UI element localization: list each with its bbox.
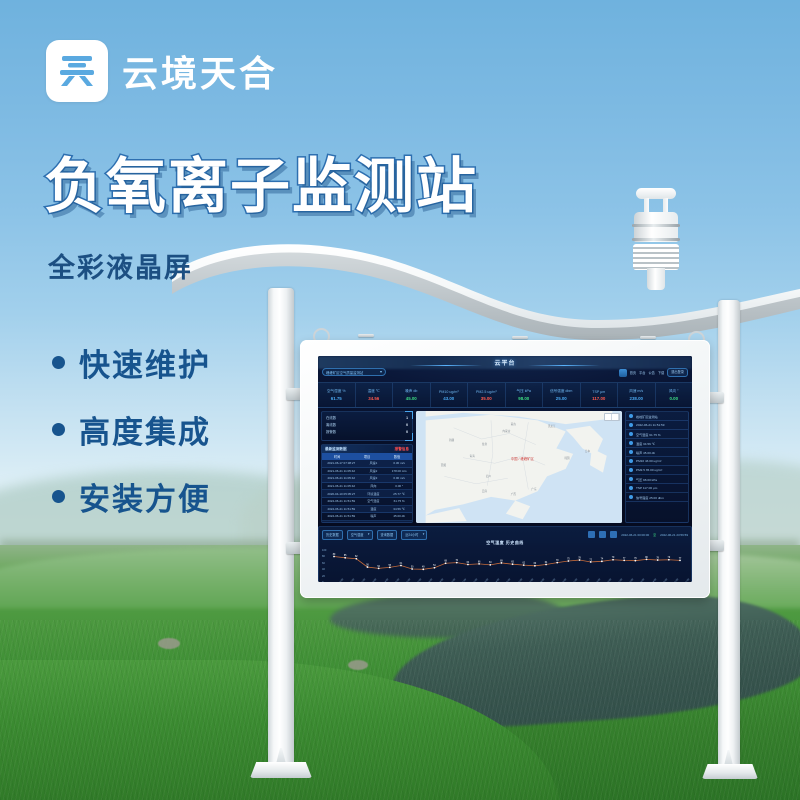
map-canvas[interactable]: 中国 / 峰峰矿区 新疆 内蒙古 黑龙江 西藏 青海 甘肃 四川 云南 广西 广… [416, 411, 622, 523]
export-icon[interactable] [588, 531, 595, 538]
metric-strip: 空气湿度 % 61.75 温度 ℃ 34.56 噪声 db 45.00 PM10… [318, 382, 692, 408]
time-separator: 至 [653, 533, 656, 537]
header-links[interactable]: 首页 平台 公告 下载 [630, 370, 665, 375]
table-row[interactable]: 2021-06-21 11:05:42风向0.00 ° [322, 483, 412, 491]
bullet-dot-icon [629, 495, 633, 499]
map-region-label: 韩国 [564, 456, 569, 460]
chart-line-series: 8985825652556150495468706466636965626064… [331, 547, 683, 582]
station-info-list: 峰峰矿区监测站2022-06-21 11:51:59空气湿度 61.75 %温度… [626, 412, 688, 502]
chart-point-label: 61 [400, 563, 403, 565]
chart-point-label: 52 [377, 566, 380, 568]
map-region-label: 西藏 [441, 463, 446, 467]
feature-list: 快速维护 高度集成 安装方便 [52, 340, 211, 541]
chart-point-label: 79 [612, 557, 615, 559]
metric-card: PM2.5 ug/m³ 35.00 [468, 383, 506, 407]
lcd-screen[interactable]: 云平台 峰峰矿区空气质量监测站 首页 平台 公告 下载 退出登录 [318, 356, 692, 582]
canopy-tab [640, 336, 656, 339]
metric-label: 风向 ° [656, 389, 693, 394]
station-info-text: 2022-06-21 11:51:59 [636, 423, 665, 427]
chart-point-label: 78 [578, 557, 581, 559]
metric-value: 98.00 [506, 396, 543, 401]
status-label: 在线数 [326, 415, 336, 422]
page-subtitle: 全彩液晶屏 [48, 246, 193, 285]
metric-type-select[interactable]: 空气湿度 [347, 530, 373, 540]
chart-point-label: 80 [645, 557, 648, 559]
station-info-text: 峰峰矿区监测站 [636, 414, 658, 419]
chart-point-label: 79 [668, 557, 671, 559]
station-info-row: 信号强度 25.00 dbm [626, 493, 688, 502]
table-cell-item: PM10 [361, 522, 387, 523]
feature-label: 快速维护 [79, 340, 211, 385]
column-header: 项目 [352, 454, 382, 459]
dashboard-header: 云平台 峰峰矿区空气质量监测站 首页 平台 公告 下载 退出登录 [318, 356, 692, 382]
map-region-label: 新疆 [449, 438, 454, 442]
table-cell-time: 2022-06-21 11:51:59 [322, 514, 361, 518]
map-panel[interactable]: 中国 / 峰峰矿区 新疆 内蒙古 黑龙江 西藏 青海 甘肃 四川 云南 广西 广… [416, 411, 622, 523]
metric-value: 35.00 [468, 396, 505, 401]
brand-logo: 云境天合 [46, 40, 278, 102]
chart-point-label: 69 [500, 560, 503, 562]
table-row[interactable]: 2021-06-21 11:05:42风速2178.00 m/s [322, 468, 412, 476]
station-info-row: PM2.5 35.00 ug/m³ [626, 466, 688, 475]
chart-point-label: 64 [545, 562, 548, 564]
metric-card: 空气湿度 % 61.75 [318, 383, 356, 407]
map-region-label: 广西 [511, 492, 516, 496]
chart-point-label: 70 [556, 560, 559, 562]
chart-y-tick: 40 [322, 568, 325, 571]
chart-point-label: 50 [411, 566, 414, 568]
bullet-dot-icon [629, 414, 633, 418]
table-cell-value: 61.75 % [386, 499, 412, 503]
station-info-row: 噪声 45.00 db [626, 448, 688, 457]
zoom-in-icon[interactable] [605, 414, 612, 420]
chart-point-label: 60 [534, 563, 537, 565]
chart-point-label: 49 [422, 567, 425, 569]
station-info-text: 信号强度 25.00 dbm [636, 495, 664, 500]
table-cell-value: 25.77 ℃ [386, 492, 412, 496]
metric-value: 34.56 [356, 396, 393, 401]
table-cell-value: 0.00 ° [386, 484, 412, 488]
header-link[interactable]: 平台 [639, 370, 645, 375]
status-row: 报警数 0 [326, 429, 408, 436]
map-region-label: 云南 [482, 489, 487, 493]
station-info-row: 气压 98.00 kPa [626, 475, 688, 484]
metric-card: 风向 ° 0.00 [656, 383, 693, 407]
map-region-label: 黑龙江 [548, 424, 556, 428]
bullet-dot-icon [52, 423, 65, 436]
station-info-row: 温度 34.56 ℃ [626, 439, 688, 448]
table-row[interactable]: 2022-06-21 11:51:59噪声45.00 db [322, 513, 412, 521]
chart-y-tick: 80 [322, 555, 325, 558]
table-cell-time: 2022-06-21 11:51:59 [322, 507, 361, 511]
end-time[interactable]: 2022-06-21 23:59:59 [660, 533, 688, 537]
canopy-tab [512, 336, 528, 339]
metric-value: 45.00 [393, 396, 430, 401]
page-title: 负氧离子监测站 [44, 138, 478, 225]
bullet-dot-icon [629, 477, 633, 481]
status-row: 离线数 0 [326, 422, 408, 429]
bullet-dot-icon [629, 423, 633, 427]
feature-item: 高度集成 [52, 407, 211, 452]
chart-point-label: 62 [522, 563, 525, 565]
chart-point-label: 55 [389, 565, 392, 567]
left-column: 在线数 1 离线数 0 报警数 0 [321, 411, 413, 523]
product-banner: 云平台 峰峰矿区空气质量监测站 首页 平台 公告 下载 退出登录 [0, 0, 800, 800]
table-title: 最新监测数据 [325, 447, 347, 452]
station-info-row: 2022-06-21 11:51:59 [626, 421, 688, 430]
chart-point-label: 76 [634, 558, 637, 560]
canopy-tab [358, 334, 374, 337]
status-summary-panel: 在线数 1 离线数 0 报警数 0 [321, 411, 413, 441]
bullet-dot-icon [629, 459, 633, 463]
station-info-row: PM10 43.00 ug/m³ [626, 457, 688, 466]
map-landmass [416, 411, 622, 523]
status-value: 0 [406, 422, 408, 429]
header-link[interactable]: 首页 [630, 370, 636, 375]
feature-item: 安装方便 [52, 474, 211, 519]
table-cell-value: 34.56 ℃ [386, 507, 412, 511]
table-cell-time: 2022-06-21 11:51:59 [322, 499, 361, 503]
station-info-text: PM10 43.00 ug/m³ [636, 459, 661, 463]
map-site-label: 中国 / 峰峰矿区 [511, 456, 534, 461]
metric-card: TSP μm 117.00 [581, 383, 619, 407]
logout-button[interactable]: 退出登录 [667, 368, 688, 377]
support-pole-right [718, 300, 740, 770]
chart-point-label: 85 [344, 555, 347, 557]
ultrasonic-weather-sensor-icon [628, 188, 684, 284]
station-info-row: 空气湿度 61.75 % [626, 430, 688, 439]
chart-point-label: 77 [623, 558, 626, 560]
zoom-out-icon[interactable] [612, 414, 619, 420]
status-label: 离线数 [326, 422, 336, 429]
chart-point-label: 77 [679, 558, 682, 560]
metric-value: 43.00 [431, 396, 468, 401]
chart-point-label: 89 [333, 554, 336, 556]
table-row[interactable]: 2020-04-10 05:05:27环境温度25.77 ℃ [322, 490, 412, 498]
chart-line [334, 557, 680, 570]
chart-plot: 100806040200 898582565255615049546870646… [322, 547, 688, 582]
table-cell-time: 2020-04-10 05:05:27 [322, 492, 361, 496]
metric-label: TSP μm [581, 390, 618, 394]
map-region-label: 青海 [470, 454, 475, 458]
sensor-cap [636, 188, 676, 199]
metric-card: 信号强度 dbm 25.00 [543, 383, 581, 407]
metric-card: 气压 kPa 98.00 [506, 383, 544, 407]
feature-item: 快速维护 [52, 340, 211, 385]
table-row[interactable]: 2021-06-17 07:38:27风速10.30 m/s [322, 460, 412, 468]
chart-point-label: 72 [589, 559, 592, 561]
sensor-ring [632, 224, 680, 227]
corner-decoration [405, 433, 413, 441]
table-cell-time: 2021-06-17 07:38:27 [322, 461, 361, 465]
table-cell-item: 风速1 [361, 461, 387, 465]
map-zoom-controls[interactable] [604, 413, 620, 421]
history-chart-panel: 历史数据 空气湿度 查询数据 近24小时 2022-06-21 00:00:00… [318, 526, 692, 582]
table-cell-time: 2021-06-21 11:05:42 [322, 484, 361, 488]
account-area[interactable]: 首页 平台 公告 下载 退出登录 [619, 367, 688, 378]
table-cell-value: 0.30 m/s [386, 461, 412, 465]
table-cell-value: 0.00 m/s [386, 476, 412, 480]
feature-label: 高度集成 [79, 407, 211, 452]
query-button[interactable]: 查询数据 [377, 530, 398, 540]
metric-value: 25.00 [543, 396, 580, 401]
table-cell-item: 环境温度 [361, 492, 387, 496]
map-region-label: 日本 [585, 449, 590, 453]
print-icon[interactable] [599, 531, 606, 538]
station-info-row: TSP 117.00 μm [626, 484, 688, 493]
metric-label: 温度 ℃ [356, 389, 393, 394]
chart-point-label: 65 [511, 562, 514, 564]
corner-decoration [405, 411, 413, 419]
rock [158, 638, 180, 649]
chart-title: 空气湿度 历史曲线 [322, 540, 688, 546]
table-cell-time: 2021-06-21 11:05:42 [322, 476, 361, 480]
rock [348, 660, 368, 670]
station-info-text: TSP 117.00 μm [636, 486, 657, 490]
metric-label: 气压 kPa [506, 389, 543, 394]
map-region-label: 蒙古 [511, 422, 516, 426]
station-info-text: 气压 98.00 kPa [636, 477, 657, 482]
metric-value: 0.00 [656, 396, 693, 401]
table-cell-item: 风速2 [361, 469, 387, 473]
sensor-ring [632, 238, 680, 241]
table-cell-value: 43.00 ug/m³ [386, 522, 412, 523]
metric-label: 噪声 db [393, 389, 430, 394]
metric-label: 信号强度 dbm [543, 389, 580, 394]
metric-card: 温度 ℃ 34.56 [356, 383, 394, 407]
metric-card: PM10 ug/m³ 43.00 [431, 383, 469, 407]
metric-card: 风速 m/s 238.00 [618, 383, 656, 407]
metric-value: 61.75 [318, 396, 355, 401]
metric-label: PM10 ug/m³ [431, 390, 468, 394]
table-cell-value: 178.00 m/s [386, 469, 412, 473]
history-data-button[interactable]: 历史数据 [322, 530, 343, 540]
pole-base-plate-right [702, 764, 758, 779]
metric-value: 238.00 [618, 396, 655, 401]
bullet-dot-icon [52, 490, 65, 503]
status-row: 在线数 1 [326, 415, 408, 422]
chart-y-tick: 20 [322, 575, 325, 578]
station-info-text: 空气湿度 61.75 % [636, 432, 661, 437]
table-icon[interactable] [610, 531, 617, 538]
canopy-roof [168, 236, 800, 346]
chart-point-label: 82 [355, 556, 358, 558]
chart-toolbar: 历史数据 空气湿度 查询数据 近24小时 2022-06-21 00:00:00… [322, 530, 688, 539]
column-header: 数值 [382, 454, 412, 459]
station-info-row: 峰峰矿区监测站 [626, 412, 688, 421]
table-row[interactable]: 2022-06-21 11:51:59温度34.56 ℃ [322, 506, 412, 514]
sensor-stem [647, 268, 665, 290]
table-cell-value: 45.00 db [386, 514, 412, 518]
table-row[interactable]: 2021-06-21 11:05:42风速30.00 m/s [322, 475, 412, 483]
table-cell-time: 2021-06-21 11:05:42 [322, 469, 361, 473]
station-info-panel: 峰峰矿区监测站2022-06-21 11:51:59空气湿度 61.75 %温度… [625, 411, 689, 523]
table-cell-item: 噪声 [361, 514, 387, 518]
status-label: 报警数 [326, 429, 336, 436]
latest-data-table: 最新监测数据 报警信息 时间 项目 数值 2021-06-17 07:38:27… [321, 444, 413, 523]
bullet-dot-icon [629, 468, 633, 472]
chart-point-label: 56 [366, 564, 369, 566]
metric-value: 117.00 [581, 396, 618, 401]
support-pole-left [268, 288, 294, 768]
map-region-label: 甘肃 [482, 442, 487, 446]
chart-point-label: 63 [489, 562, 492, 564]
chart-point-label: 78 [656, 557, 659, 559]
sensor-radiation-shield [633, 244, 679, 270]
metric-label: 空气湿度 % [318, 389, 355, 394]
feature-label: 安装方便 [79, 474, 211, 519]
chart-point-label: 64 [467, 562, 470, 564]
chart-point-label: 75 [567, 558, 570, 560]
metric-label: 风速 m/s [618, 389, 655, 394]
station-info-text: 噪声 45.00 db [636, 450, 655, 455]
table-column-headers: 时间 项目 数值 [322, 453, 412, 460]
column-header: 时间 [322, 454, 352, 459]
station-info-text: PM2.5 35.00 ug/m³ [636, 468, 662, 472]
avatar[interactable] [619, 369, 627, 377]
metric-label: PM2.5 ug/m³ [468, 390, 505, 394]
metric-card: 噪声 db 45.00 [393, 383, 431, 407]
table-cell-time: 2022-06-21 11:51:59 [322, 522, 361, 523]
chart-point-label: 66 [478, 561, 481, 563]
table-row[interactable]: 2022-06-21 11:51:59空气湿度61.75 % [322, 498, 412, 506]
chart-point-label: 70 [455, 560, 458, 562]
alarm-badge[interactable]: 报警信息 [395, 447, 409, 452]
table-cell-item: 空气湿度 [361, 499, 387, 503]
bullet-dot-icon [52, 356, 65, 369]
dashboard-body: 在线数 1 离线数 0 报警数 0 [318, 408, 692, 526]
table-cell-item: 温度 [361, 507, 387, 511]
header-link[interactable]: 下载 [658, 370, 664, 375]
yjth-logo-icon [46, 40, 108, 102]
cloud-platform-dashboard: 云平台 峰峰矿区空气质量监测站 首页 平台 公告 下载 退出登录 [318, 356, 692, 582]
brand-name: 云境天合 [122, 45, 278, 97]
lcd-display-cabinet: 云平台 峰峰矿区空气质量监测站 首页 平台 公告 下载 退出登录 [300, 340, 710, 598]
header-link[interactable]: 公告 [649, 370, 655, 375]
pole-base-plate-left [250, 762, 312, 778]
table-row[interactable]: 2022-06-21 11:51:59PM1043.00 ug/m³ [322, 521, 412, 523]
bullet-dot-icon [629, 450, 633, 454]
map-region-label: 内蒙古 [503, 429, 511, 433]
chart-y-tick: 60 [322, 562, 325, 565]
site-select[interactable]: 峰峰矿区空气质量监测站 [322, 368, 386, 376]
bullet-dot-icon [629, 486, 633, 490]
chart-y-tick: 100 [322, 549, 326, 552]
table-cell-item: 风向 [361, 484, 387, 488]
chart-point-label: 68 [444, 561, 447, 563]
bullet-dot-icon [629, 441, 633, 445]
chart-y-tick: 0 [322, 581, 323, 582]
dashboard-title: 云平台 [318, 358, 692, 367]
table-cell-item: 风速3 [361, 476, 387, 480]
table-header-bar: 最新监测数据 报警信息 [322, 445, 412, 453]
map-region-label: 广东 [531, 487, 536, 491]
time-range-select[interactable]: 近24小时 [401, 530, 427, 540]
chart-point-label: 74 [601, 559, 604, 561]
start-time[interactable]: 2022-06-21 00:00:00 [621, 533, 649, 537]
station-info-text: 温度 34.56 ℃ [636, 441, 655, 446]
table-body: 2021-06-17 07:38:27风速10.30 m/s2021-06-21… [322, 460, 412, 523]
map-region-label: 四川 [486, 474, 491, 478]
bullet-dot-icon [629, 432, 633, 436]
